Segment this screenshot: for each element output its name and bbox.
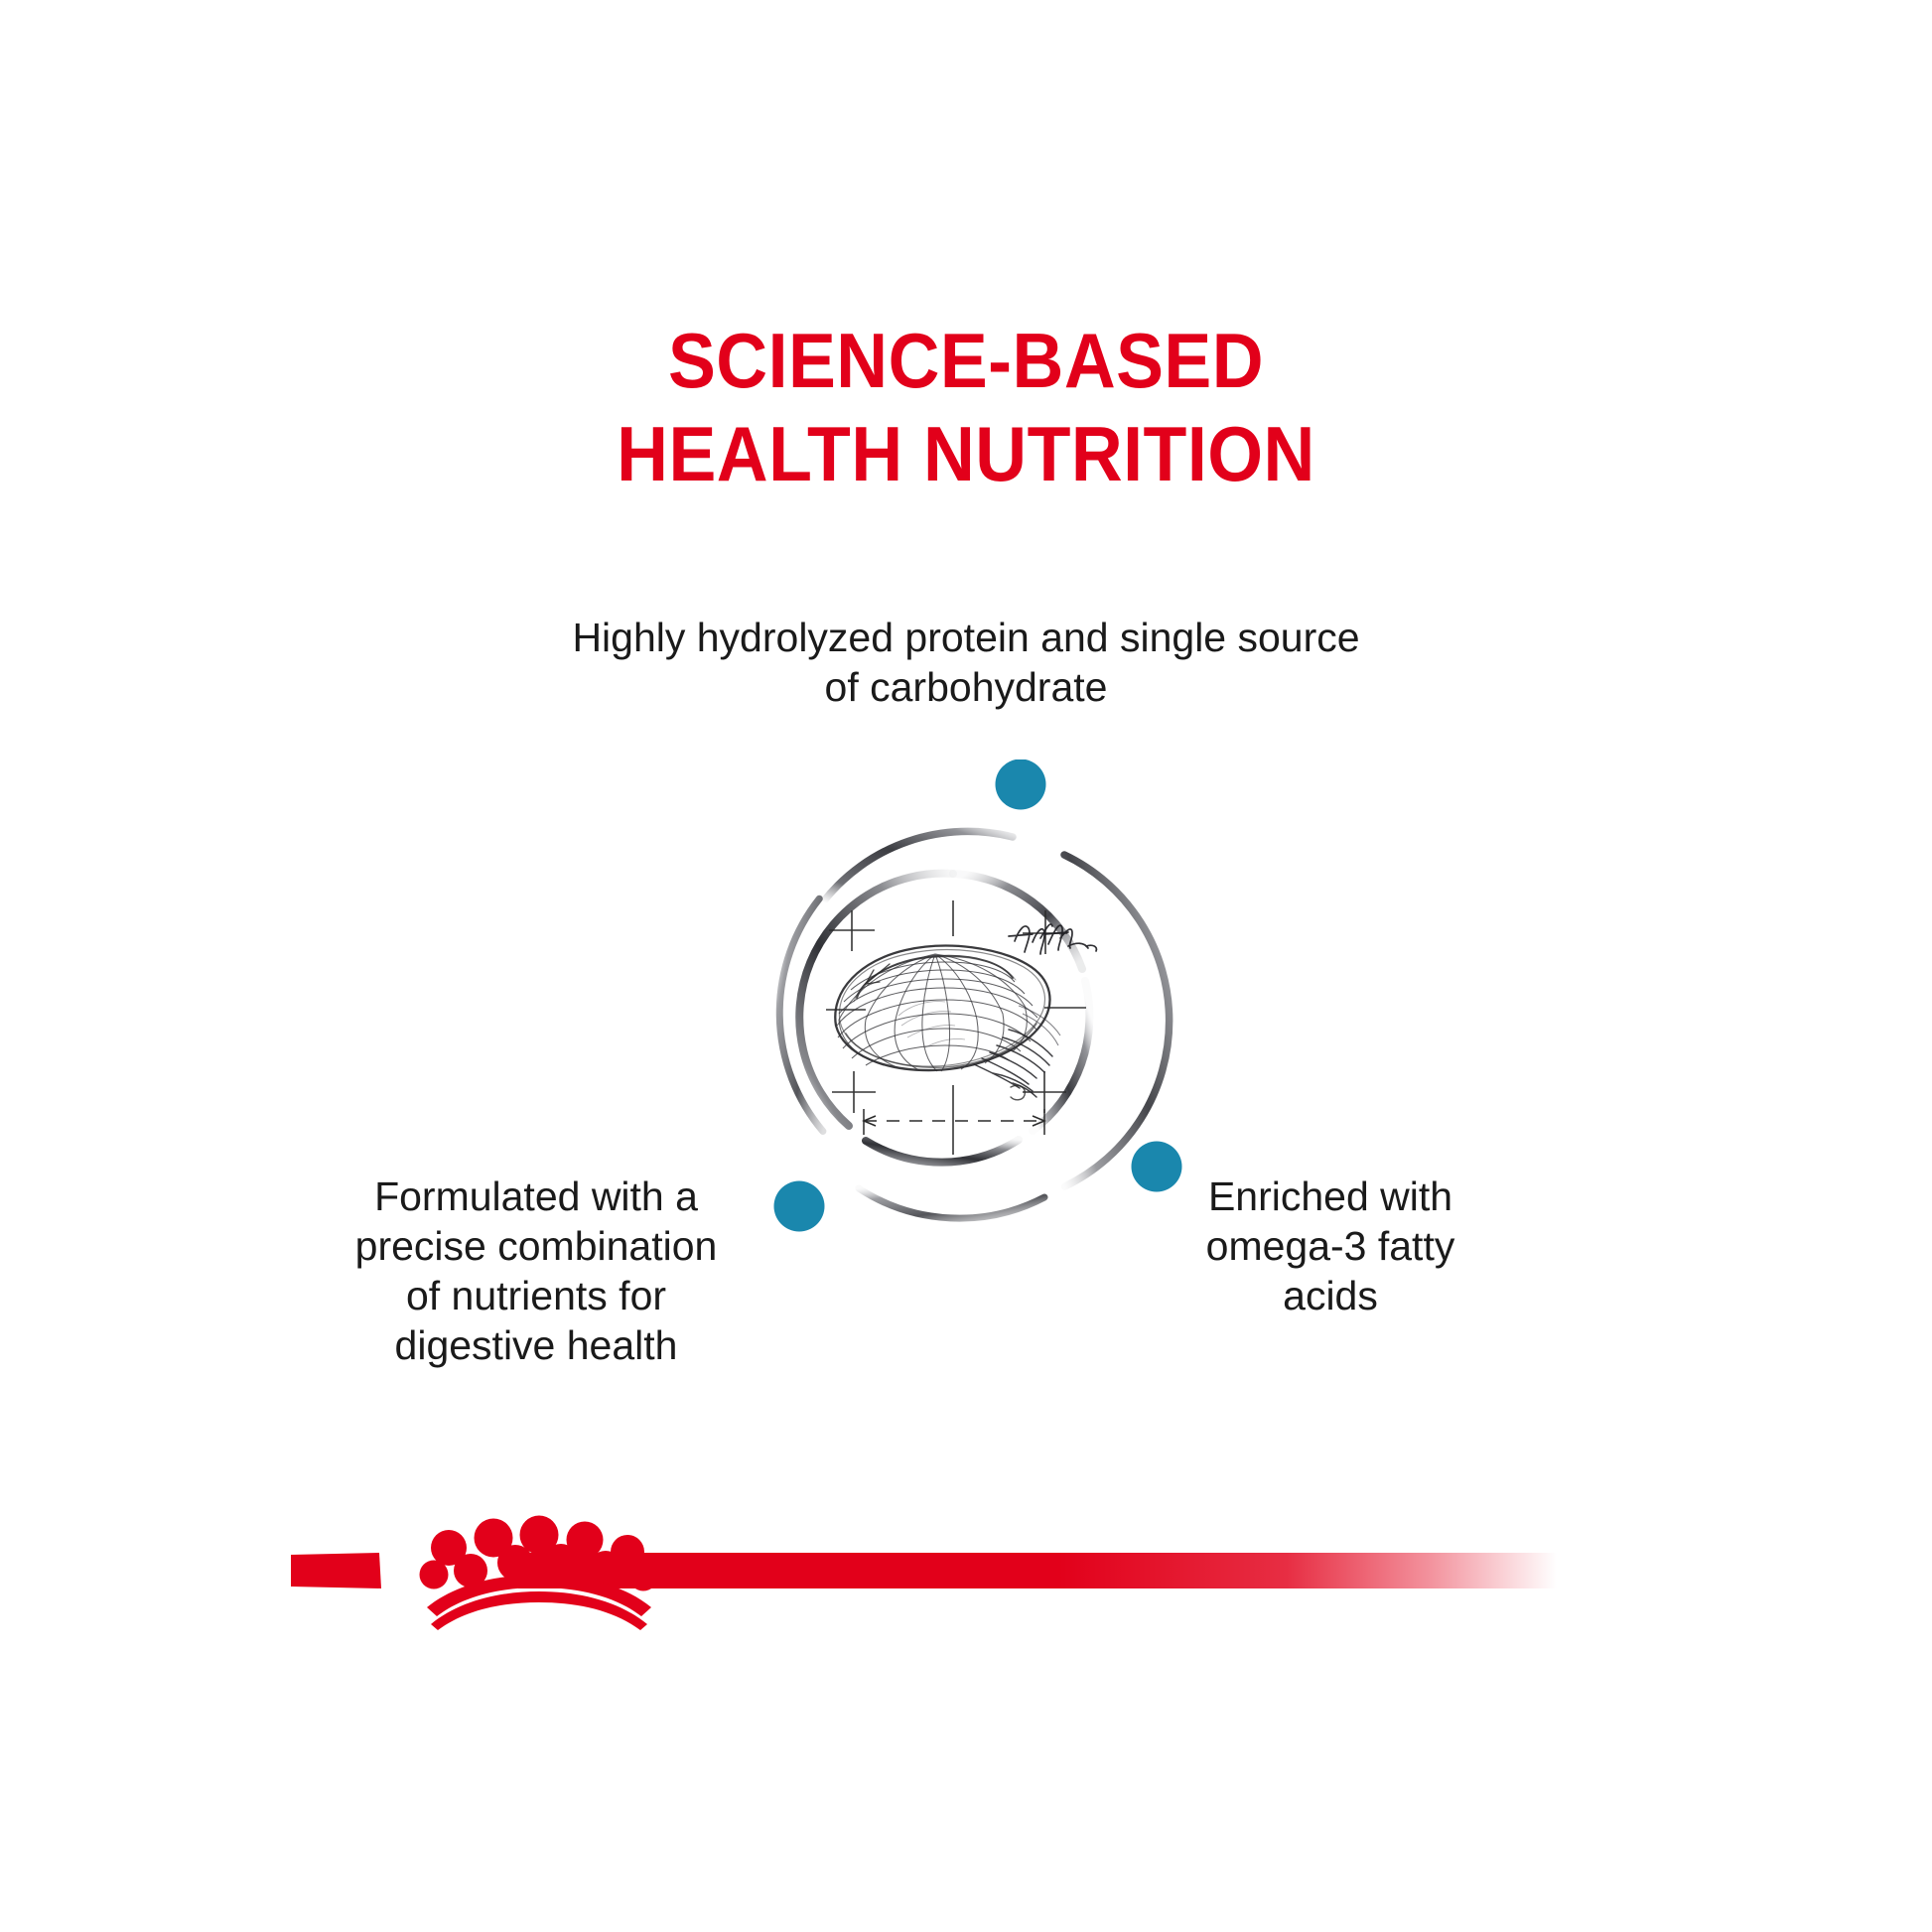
claim-digestive-health-line-3: of nutrients for	[328, 1271, 745, 1320]
page-title-line-2: HEALTH NUTRITION	[77, 407, 1855, 500]
kibble-emblem	[695, 759, 1211, 1276]
page-title: SCIENCE-BASED HEALTH NUTRITION	[0, 314, 1932, 500]
claim-dot-bottom-left	[774, 1181, 825, 1232]
kibble-technical-sketch	[826, 900, 1096, 1155]
brand-bar-left	[291, 1553, 381, 1588]
handwritten-annotation	[1009, 924, 1096, 954]
product-benefit-panel: SCIENCE-BASED HEALTH NUTRITION Highly hy…	[0, 0, 1932, 1932]
claim-omega-3: Enriched with omega-3 fatty acids	[1181, 1172, 1479, 1320]
claim-digestive-health-line-4: digestive health	[328, 1320, 745, 1370]
claim-omega-3-line-1: Enriched with	[1181, 1172, 1479, 1221]
brand-bar-right	[518, 1553, 1557, 1588]
claim-digestive-health-line-1: Formulated with a	[328, 1172, 745, 1221]
claim-hydrolyzed-protein-line-2: of carbohydrate	[470, 662, 1462, 712]
claim-dot-right	[1132, 1142, 1182, 1192]
claim-hydrolyzed-protein-line-1: Highly hydrolyzed protein and single sou…	[470, 613, 1462, 662]
royal-canin-brand-bar	[0, 1509, 1932, 1638]
claim-hydrolyzed-protein: Highly hydrolyzed protein and single sou…	[470, 613, 1462, 712]
page-title-line-1: SCIENCE-BASED	[77, 314, 1855, 407]
claim-omega-3-line-3: acids	[1181, 1271, 1479, 1320]
claim-omega-3-line-2: omega-3 fatty	[1181, 1221, 1479, 1271]
claim-digestive-health-line-2: precise combination	[328, 1221, 745, 1271]
claim-digestive-health: Formulated with a precise combination of…	[328, 1172, 745, 1370]
claim-dot-top	[996, 759, 1046, 810]
